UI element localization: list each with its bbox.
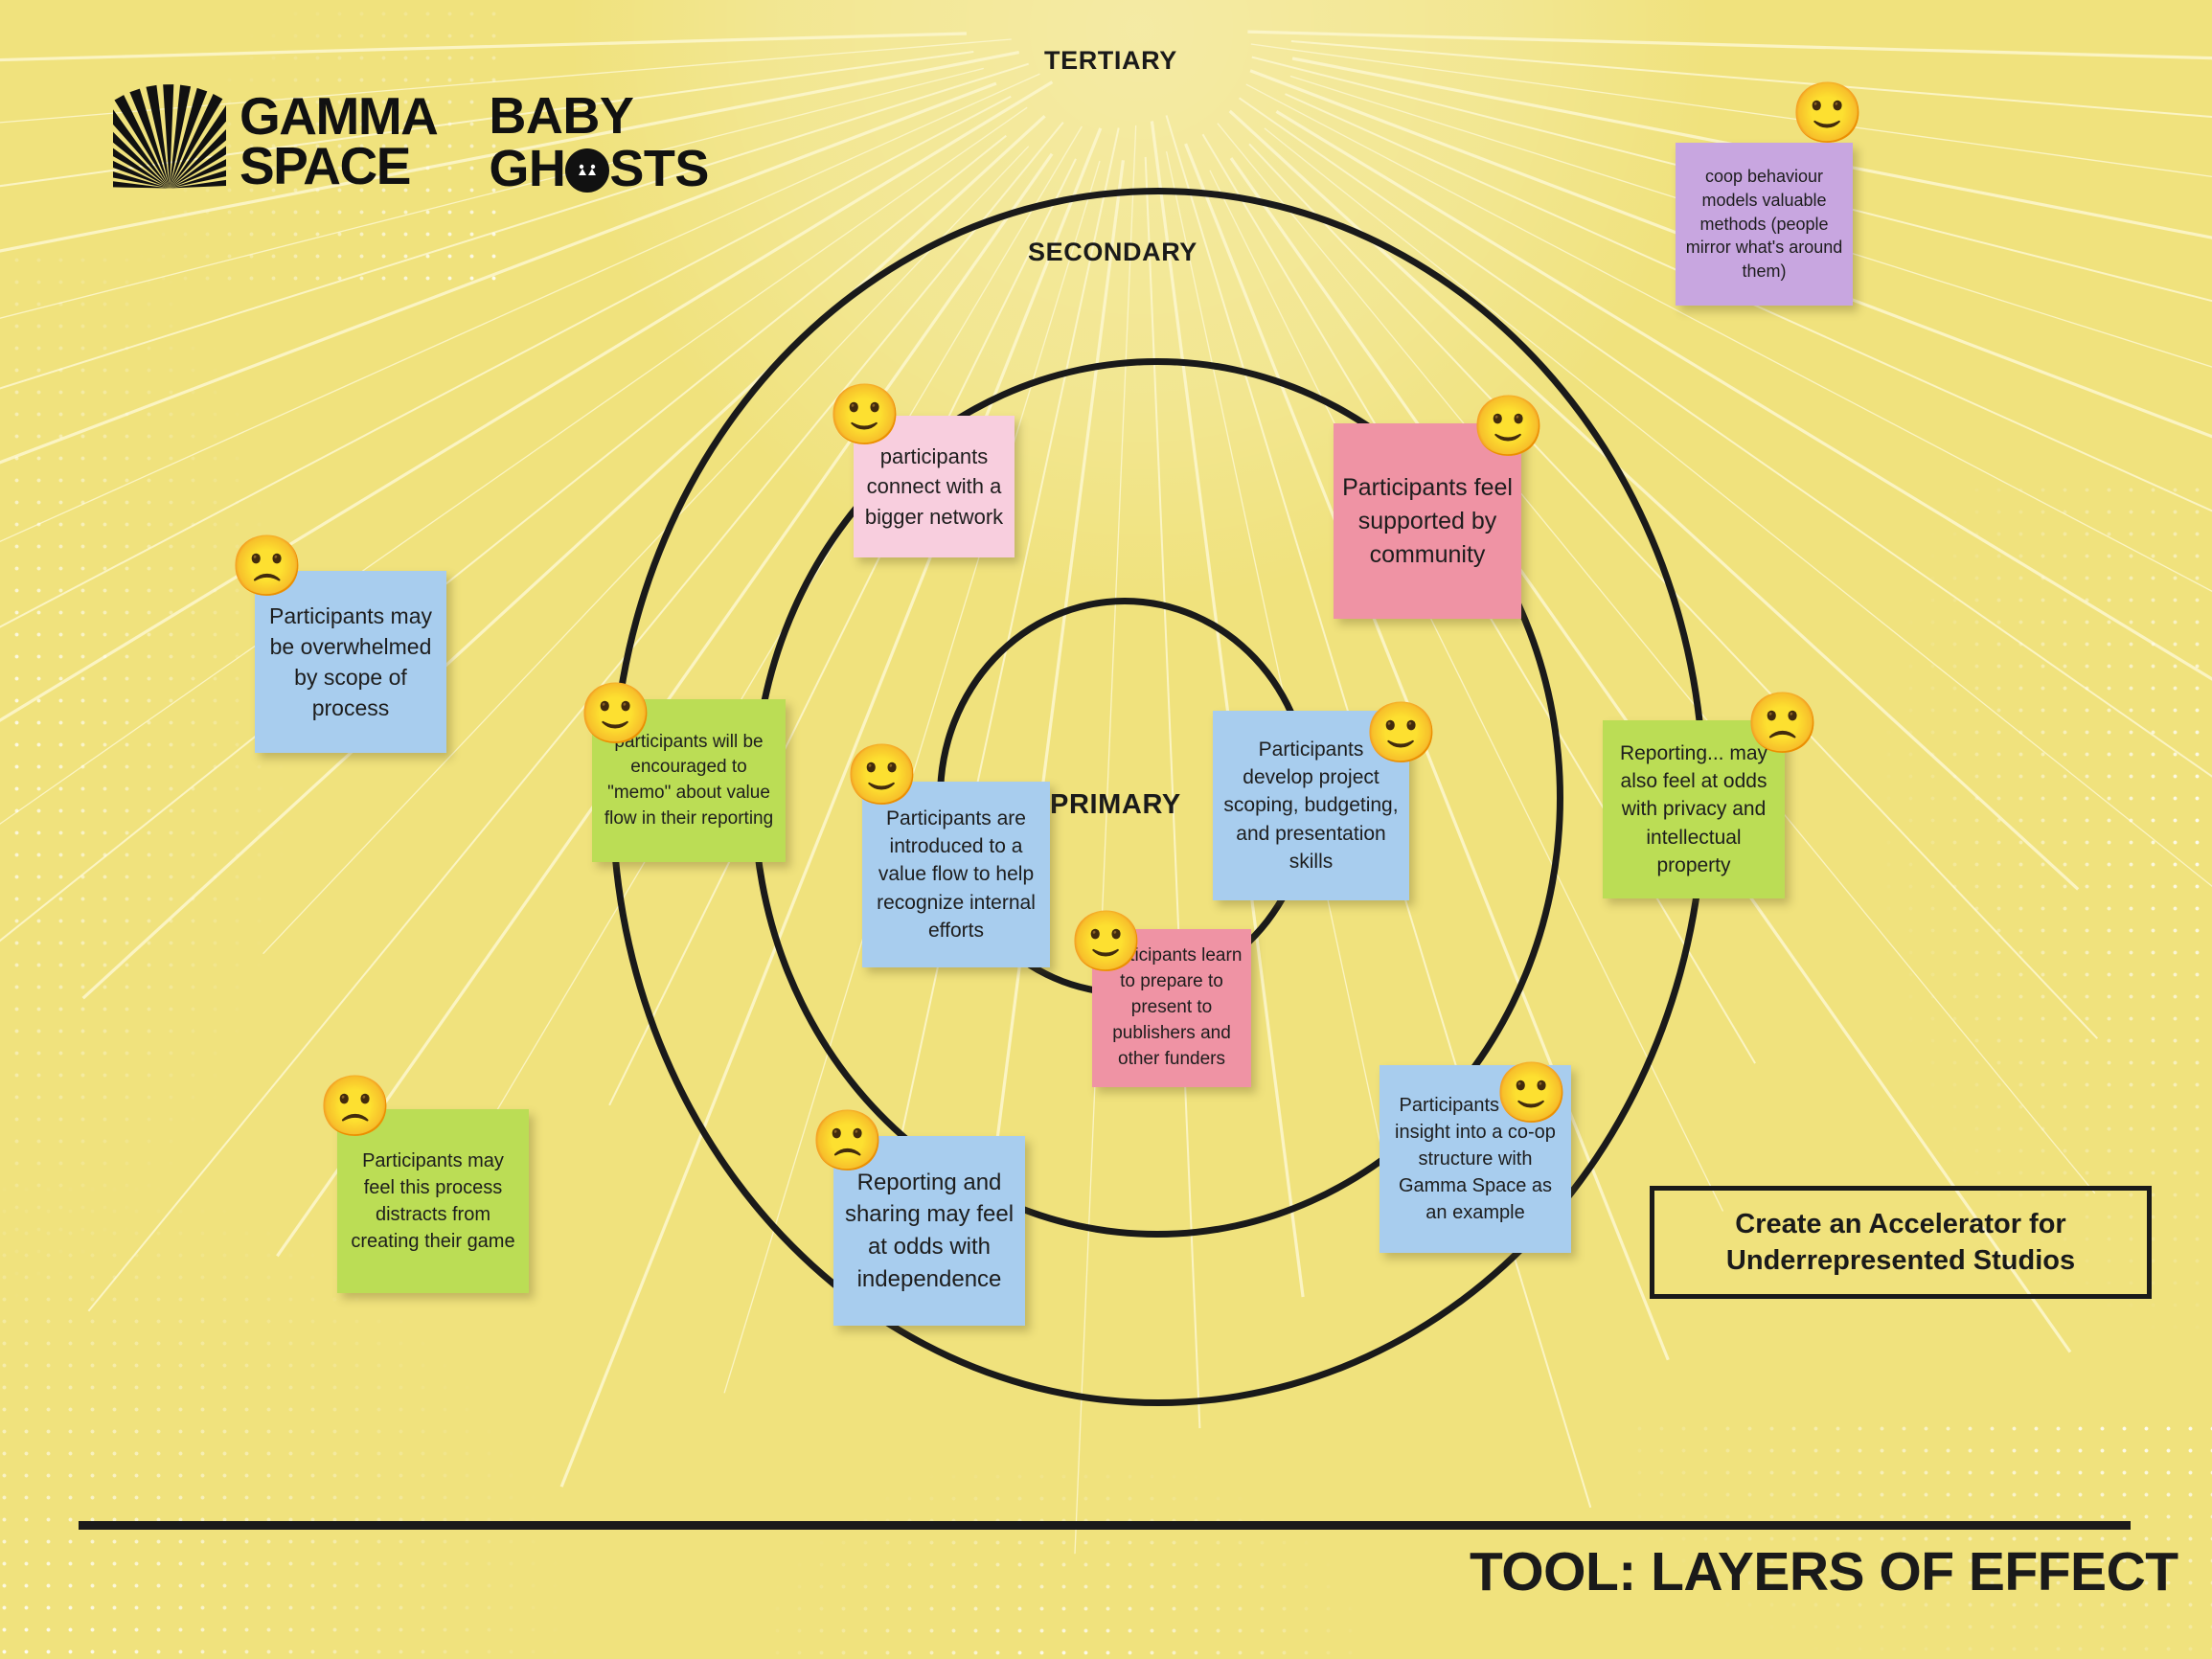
sticky-note-text: Participants may feel this process distr… [346,1148,520,1255]
sticky-note-distracts-from-game[interactable]: Participants may feel this process distr… [337,1109,529,1293]
sticky-note-coop-behaviour[interactable]: coop behaviour models valuable methods (… [1676,143,1853,306]
sticky-note-text: coop behaviour models valuable methods (… [1684,165,1844,284]
babyghosts-line-2-before: GH [489,140,565,197]
sticky-note-overwhelmed-by-scope[interactable]: Participants may be overwhelmed by scope… [255,571,446,753]
sticky-note-prepare-to-present[interactable]: Participants learn to prepare to present… [1092,929,1251,1087]
layers-of-effect-board: TERTIARY SECONDARY PRIMARY GAMMA SPACE B… [0,0,2212,1659]
sticky-note-text: Participants are introduced to a value f… [871,805,1041,945]
babyghosts-line-2-after: STS [609,140,709,197]
gamma-line-2: SPACE [239,141,437,191]
footer-divider [79,1521,2131,1530]
sticky-note-odds-with-independence[interactable]: Reporting and sharing may feel at odds w… [833,1136,1025,1326]
baby-ghosts-logo: BABY GHSTS [489,90,709,195]
challenge-statement-box: Create an Accelerator for Underrepresent… [1650,1186,2152,1299]
sticky-note-introduced-value-flow[interactable]: Participants are introduced to a value f… [862,782,1050,967]
sticky-note-memo-value-flow[interactable]: participants will be encouraged to "memo… [592,699,786,862]
emoji-happy-coop: 🙂 [1790,81,1856,147]
sticky-note-text: Reporting and sharing may feel at odds w… [842,1167,1016,1295]
babyghosts-line-1: BABY [489,90,709,143]
gamma-space-wordmark: GAMMA SPACE [239,91,437,192]
halftone-dots-left [0,249,287,1303]
sticky-note-text: Participants feel supported by community [1342,471,1513,572]
sticky-note-supported-by-community[interactable]: Participants feel supported by community [1334,423,1521,619]
gamma-line-1: GAMMA [239,91,437,141]
logo-row: GAMMA SPACE BABY GHSTS [113,84,709,197]
halftone-dots-bottom-right [1629,1418,2212,1659]
tool-title: TOOL: LAYERS OF EFFECT [1470,1540,2178,1603]
sunburst-mark-icon [113,84,226,197]
sticky-note-text: Participants may be overwhelmed by scope… [263,601,438,724]
halftone-dots-bottom-center [766,1466,1360,1659]
sticky-note-project-scoping[interactable]: Participants develop project scoping, bu… [1213,711,1409,900]
sticky-note-text: Reporting... may also feel at odds with … [1611,739,1776,880]
sticky-note-text: Participants develop project scoping, bu… [1221,736,1401,876]
babyghosts-line-2: GHSTS [489,143,709,195]
sticky-note-text: Participants learn to prepare to present… [1101,943,1243,1073]
ring-label-primary: PRIMARY [1050,789,1181,821]
gamma-space-logo: GAMMA SPACE [113,84,437,197]
sticky-note-text: Participants some insight into a co-op s… [1388,1092,1562,1226]
ring-label-tertiary: TERTIARY [1044,46,1177,76]
challenge-statement-text: Create an Accelerator for Underrepresent… [1654,1206,2147,1280]
sticky-note-bigger-network[interactable]: participants connect with a bigger netwo… [854,416,1015,557]
sticky-note-privacy-ip[interactable]: Reporting... may also feel at odds with … [1603,720,1785,898]
ring-label-secondary: SECONDARY [1028,238,1197,267]
sticky-note-text: participants connect with a bigger netwo… [862,442,1006,532]
ghost-icon [565,148,609,193]
sticky-note-co-op-structure[interactable]: Participants some insight into a co-op s… [1380,1065,1571,1253]
sticky-note-text: participants will be encouraged to "memo… [601,730,777,831]
